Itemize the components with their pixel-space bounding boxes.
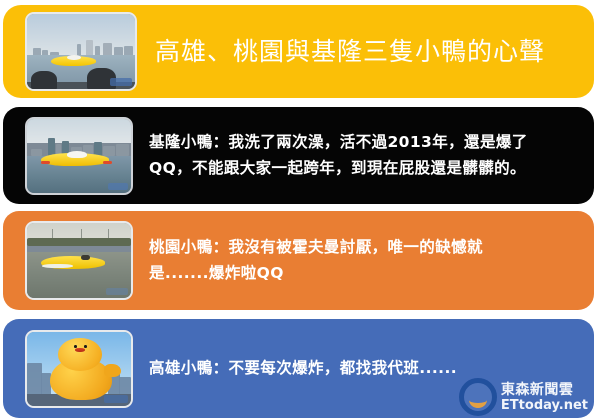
header-banner: 高雄、桃園與基隆三隻小鴨的心聲 [3,5,594,98]
duck-highlight [42,264,73,269]
header-text-block: 高雄、桃園與基隆三隻小鴨的心聲 [137,38,594,66]
photo-credit-tag [106,288,128,295]
treeline-layer [27,238,131,246]
duck-head-shape [58,338,102,371]
duck-eye-right [84,345,86,348]
row-kaohsiung: 高雄小鴨：不要每次爆炸，都找我代班...... 東森新聞雲 ETtoday.ne… [3,319,594,418]
duck-beak-shape [41,161,50,164]
taoyuan-line-2: 是.......爆炸啦QQ [149,261,584,286]
duck-debris-shape [81,255,90,260]
taoyuan-thumbnail [25,221,133,300]
duck-highlight [67,151,88,158]
ettoday-wordmark: 東森新聞雲 ETtoday.net [501,383,588,412]
page-title: 高雄、桃園與基隆三隻小鴨的心聲 [155,38,584,66]
keelung-thumbnail [25,117,133,195]
ettoday-logo-icon [459,378,497,416]
smile-icon [469,392,487,408]
duck-tail-shape [104,364,121,377]
ettoday-watermark: 東森新聞雲 ETtoday.net [459,378,588,416]
infographic-page: 高雄、桃園與基隆三隻小鴨的心聲 基隆小鴨 [0,0,600,420]
photo-credit-tag [110,78,132,86]
ettoday-chinese-name: 東森新聞雲 [501,383,588,397]
row-keelung: 基隆小鴨：我洗了兩次澡，活不過2013年，還是爆了 QQ，不能跟大家一起跨年，到… [3,107,594,204]
duck-tail-shape [103,161,112,164]
photo-credit-tag [104,395,128,403]
duck-beak-shape [75,348,85,352]
taoyuan-text-block: 桃園小鴨：我沒有被霍夫曼討厭，唯一的缺憾就 是.......爆炸啦QQ [133,235,594,285]
keelung-line-1: 基隆小鴨：我洗了兩次澡，活不過2013年，還是爆了 [149,130,584,155]
keelung-text-block: 基隆小鴨：我洗了兩次澡，活不過2013年，還是爆了 QQ，不能跟大家一起跨年，到… [133,130,594,180]
taoyuan-line-1: 桃園小鴨：我沒有被霍夫曼討厭，唯一的缺憾就 [149,235,584,260]
kaohsiung-thumbnail [25,330,133,408]
ettoday-domain: ETtoday.net [501,399,588,412]
photo-credit-tag [108,183,128,190]
header-thumbnail [25,12,137,91]
bollard-shape [31,71,57,91]
keelung-line-2: QQ，不能跟大家一起跨年，到現在屁股還是髒髒的。 [149,156,584,181]
duck-highlight [67,55,81,60]
row-taoyuan: 桃園小鴨：我沒有被霍夫曼討厭，唯一的缺憾就 是.......爆炸啦QQ [3,211,594,310]
